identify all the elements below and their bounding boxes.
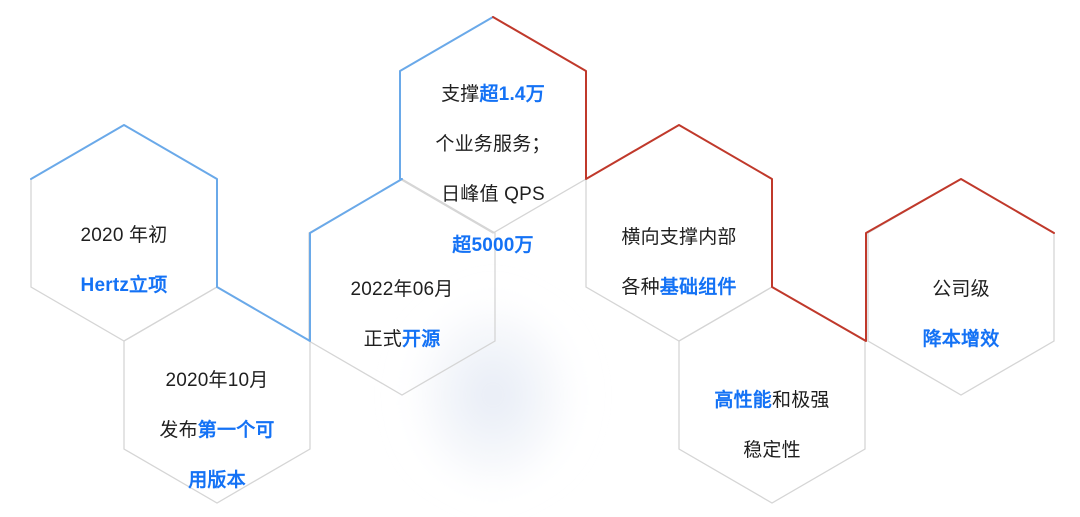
hexagon-2-outline — [124, 287, 310, 503]
hexagon-infographic: 2020 年初 Hertz立项 2020年10月 发布第一个可 用版本 2022… — [0, 0, 1080, 517]
hexagon-4-outline — [400, 17, 586, 233]
timeline-path-red — [493, 17, 1054, 341]
hexagon-6-outline — [679, 287, 865, 503]
hexagon-outlines-svg — [0, 0, 1080, 517]
timeline-path-blue — [31, 17, 493, 341]
hexagon-7-outline — [868, 179, 1054, 395]
hexagon-5-outline — [586, 125, 772, 341]
hexagon-1-outline — [31, 125, 217, 341]
decorative-blurred-hexagon — [400, 287, 586, 503]
